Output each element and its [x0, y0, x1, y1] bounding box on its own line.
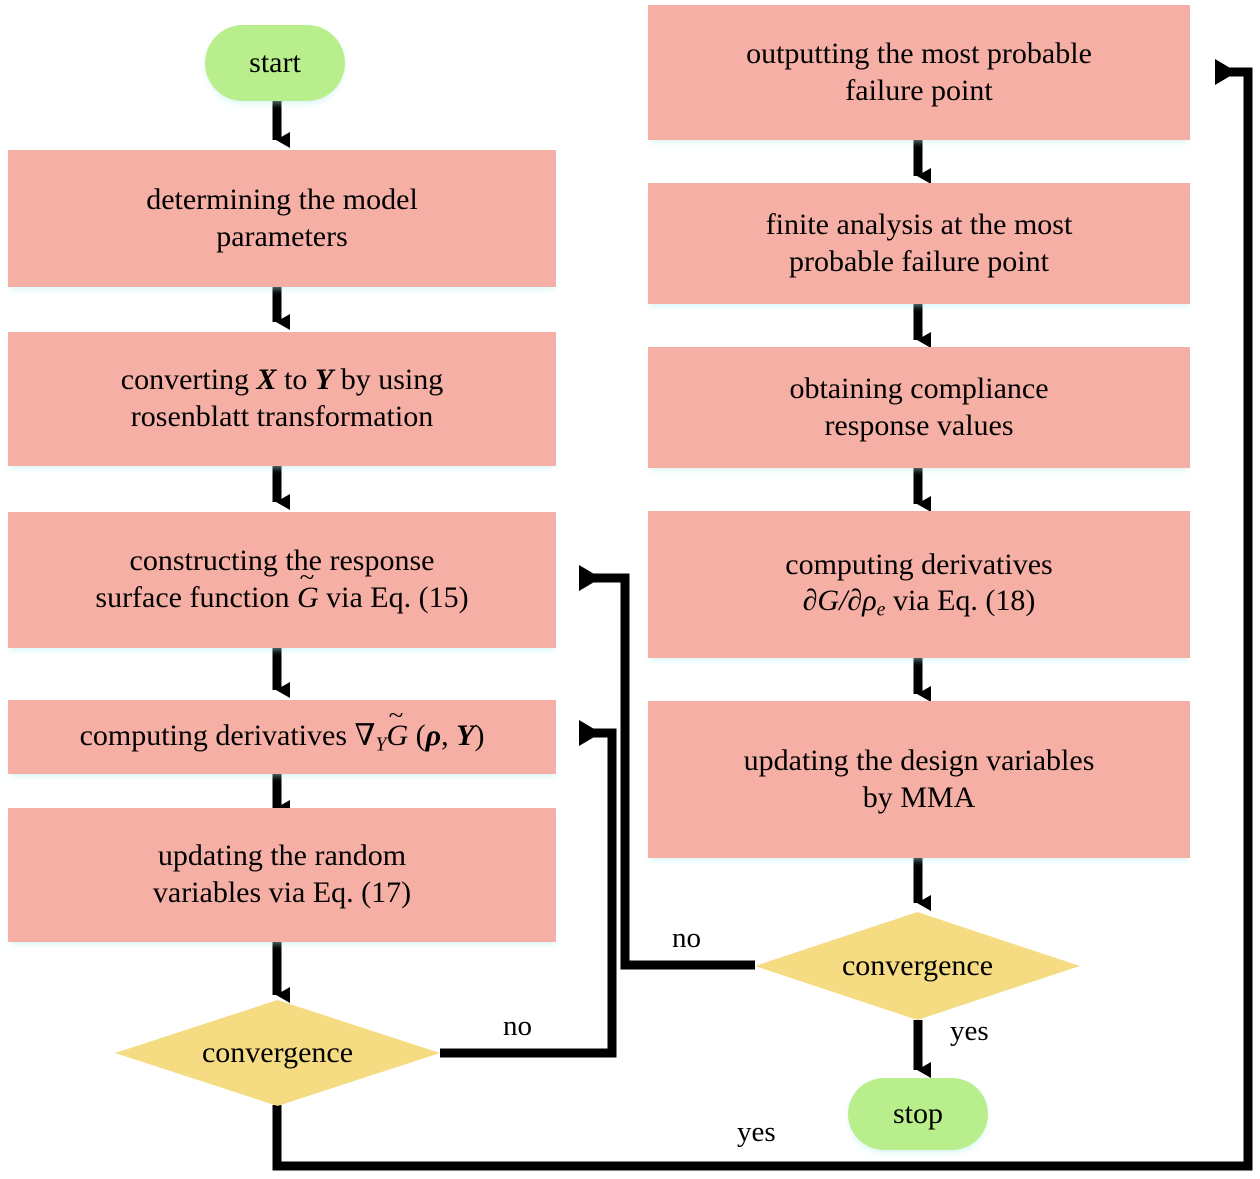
edge-label-left-no: no: [503, 1010, 532, 1043]
process-line-2: probable failure point: [766, 244, 1073, 281]
math-var-g: G: [817, 584, 839, 617]
decision-label: convergence: [755, 912, 1080, 1020]
process-computing-derivatives-dg-drho[interactable]: computing derivatives ∂G/∂ρe via Eq. (18…: [648, 511, 1190, 658]
math-g-tilde: G: [386, 718, 408, 755]
edge-label-right-no: no: [672, 922, 701, 955]
process-line-1: converting X to Y by using: [121, 362, 444, 399]
math-var-y: Y: [315, 363, 333, 396]
process-outputting-failure-point[interactable]: outputting the most probable failure poi…: [648, 5, 1190, 140]
start-terminal-label: start: [249, 45, 301, 82]
flowchart-canvas: start determining the model parameters c…: [0, 0, 1260, 1179]
process-line-1: updating the random: [153, 838, 411, 875]
process-line-2: parameters: [146, 219, 418, 256]
process-line-1: obtaining compliance: [789, 371, 1048, 408]
process-line-2: failure point: [746, 73, 1092, 110]
math-var-rho: ρ: [862, 584, 876, 617]
process-finite-analysis[interactable]: finite analysis at the most probable fai…: [648, 183, 1190, 304]
process-line-1: determining the model: [146, 182, 418, 219]
text-frag: converting: [121, 363, 257, 396]
process-computing-derivatives-nabla-g[interactable]: computing derivatives ∇YG (ρ, Y): [8, 700, 556, 774]
process-line-1: constructing the response: [95, 543, 468, 580]
math-g-tilde: G: [297, 580, 319, 617]
start-terminal[interactable]: start: [205, 25, 345, 101]
math-var-y: Y: [456, 719, 474, 752]
text-frag: (: [408, 719, 426, 752]
math-partial: ∂: [847, 584, 862, 617]
process-line-1: outputting the most probable: [746, 36, 1092, 73]
process-line-2: by MMA: [744, 780, 1095, 817]
process-updating-random-variables[interactable]: updating the random variables via Eq. (1…: [8, 808, 556, 942]
process-line-1: updating the design variables: [744, 743, 1095, 780]
process-line-2: variables via Eq. (17): [153, 875, 411, 912]
edge-label-left-yes: yes: [737, 1116, 776, 1149]
stop-terminal[interactable]: stop: [848, 1078, 988, 1150]
text-frag: via Eq. (15): [319, 581, 469, 614]
math-nabla: ∇: [355, 719, 376, 752]
process-updating-design-variables[interactable]: updating the design variables by MMA: [648, 701, 1190, 858]
text-frag: computing derivatives: [80, 719, 355, 752]
process-line-1: computing derivatives: [785, 547, 1052, 584]
math-sub-y: Y: [375, 733, 386, 755]
process-constructing-response-surface[interactable]: constructing the response surface functi…: [8, 512, 556, 648]
text-frag: by using: [333, 363, 443, 396]
math-partial: ∂: [803, 584, 818, 617]
math-var-rho: ρ: [426, 719, 441, 752]
process-line-1: computing derivatives ∇YG (ρ, Y): [80, 718, 485, 757]
process-line-2: response values: [789, 408, 1048, 445]
text-frag: ,: [441, 719, 456, 752]
process-line-2: surface function G via Eq. (15): [95, 580, 468, 617]
process-determining-model-parameters[interactable]: determining the model parameters: [8, 150, 556, 287]
math-var-x: X: [257, 363, 277, 396]
text-frag: surface function: [95, 581, 297, 614]
text-frag: ): [474, 719, 484, 752]
text-frag: via Eq. (18): [885, 584, 1035, 617]
process-line-2: ∂G/∂ρe via Eq. (18): [785, 583, 1052, 622]
stop-terminal-label: stop: [893, 1096, 943, 1133]
decision-label: convergence: [115, 1000, 440, 1106]
decision-convergence-left[interactable]: convergence: [115, 1000, 440, 1106]
decision-convergence-right[interactable]: convergence: [755, 912, 1080, 1020]
process-line-2: rosenblatt transformation: [121, 399, 444, 436]
process-obtaining-compliance[interactable]: obtaining compliance response values: [648, 347, 1190, 468]
process-line-1: finite analysis at the most: [766, 207, 1073, 244]
process-converting-x-to-y[interactable]: converting X to Y by using rosenblatt tr…: [8, 332, 556, 466]
text-frag: to: [277, 363, 315, 396]
